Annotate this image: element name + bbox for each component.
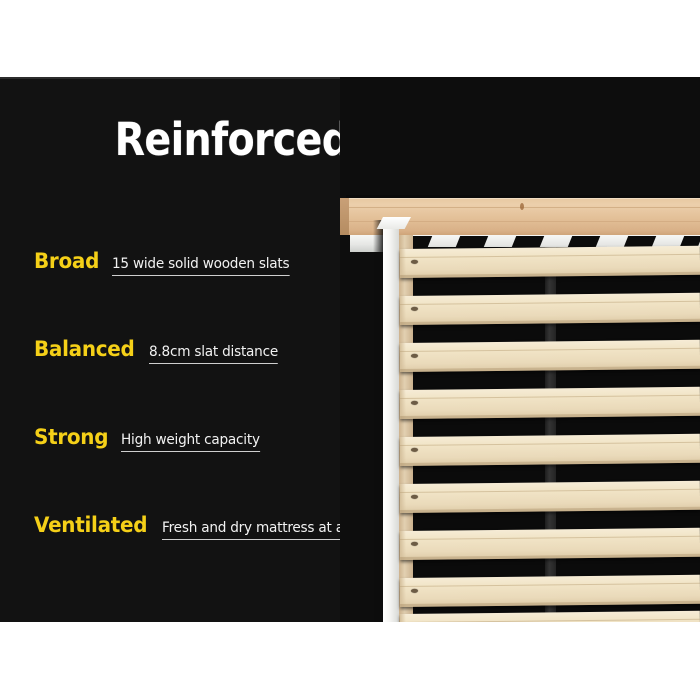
list-item: Balanced 8.8cm slat distance (34, 337, 384, 425)
feature-list: Broad 15 wide solid wooden slats Balance… (34, 249, 384, 601)
slat-end-cap (400, 531, 406, 560)
feature-term-broad: Broad (34, 249, 99, 273)
feature-term-ventilated: Ventilated (34, 513, 147, 537)
feature-term-strong: Strong (34, 425, 108, 449)
slat-end-cap (400, 390, 406, 419)
feature-description-strong: High weight capacity (121, 432, 260, 452)
wooden-slat (400, 434, 700, 466)
screw-icon (411, 448, 418, 452)
wooden-slat (400, 340, 700, 372)
list-item: Ventilated Fresh and dry mattress at all… (34, 513, 384, 601)
screw-icon (411, 354, 418, 358)
slat-end-cap (400, 484, 406, 513)
screw-icon (411, 542, 418, 546)
wooden-slat (400, 293, 700, 325)
screw-icon (411, 307, 418, 311)
promo-panel: Reinforced thick slats Broad 15 wide sol… (0, 77, 700, 622)
rail-mitred-end (340, 198, 349, 235)
wooden-slat (400, 481, 700, 513)
slat-gap-notch (456, 236, 488, 247)
wood-grain-line (400, 301, 700, 305)
screw-icon (411, 260, 418, 264)
wood-grain-line (348, 207, 700, 208)
screw-icon (411, 589, 418, 593)
wooden-slat (400, 575, 700, 607)
wood-grain-line (400, 395, 700, 399)
bed-frame-side-rail (399, 235, 413, 622)
wooden-slat (400, 528, 700, 560)
slat-end-cap (400, 343, 406, 372)
list-item: Strong High weight capacity (34, 425, 384, 513)
product-photo (340, 77, 700, 622)
wood-knot (520, 203, 524, 210)
list-item: Broad 15 wide solid wooden slats (34, 249, 384, 337)
promo-image: Reinforced thick slats Broad 15 wide sol… (0, 0, 700, 700)
wooden-slat (400, 387, 700, 419)
slat-end-cap (400, 578, 406, 607)
slat-end-cap (400, 437, 406, 466)
slat-gap-notch (512, 236, 544, 247)
screw-icon (411, 495, 418, 499)
bed-frame-post (383, 223, 399, 622)
screw-icon (411, 401, 418, 405)
wood-grain-line (400, 583, 700, 587)
wood-grain-line (400, 489, 700, 493)
feature-description-balanced: 8.8cm slat distance (149, 344, 278, 364)
slat-end-cap (400, 614, 406, 622)
slat-end-cap (400, 249, 406, 278)
wood-grain-line (400, 348, 700, 352)
slat-end-cap (400, 296, 406, 325)
wood-grain-line (400, 536, 700, 540)
feature-term-balanced: Balanced (34, 337, 135, 361)
wood-grain-line (400, 442, 700, 446)
slat-gap-notch (568, 236, 600, 247)
wood-grain-line (400, 254, 700, 258)
feature-description-broad: 15 wide solid wooden slats (112, 256, 289, 276)
wooden-slat (400, 246, 700, 278)
